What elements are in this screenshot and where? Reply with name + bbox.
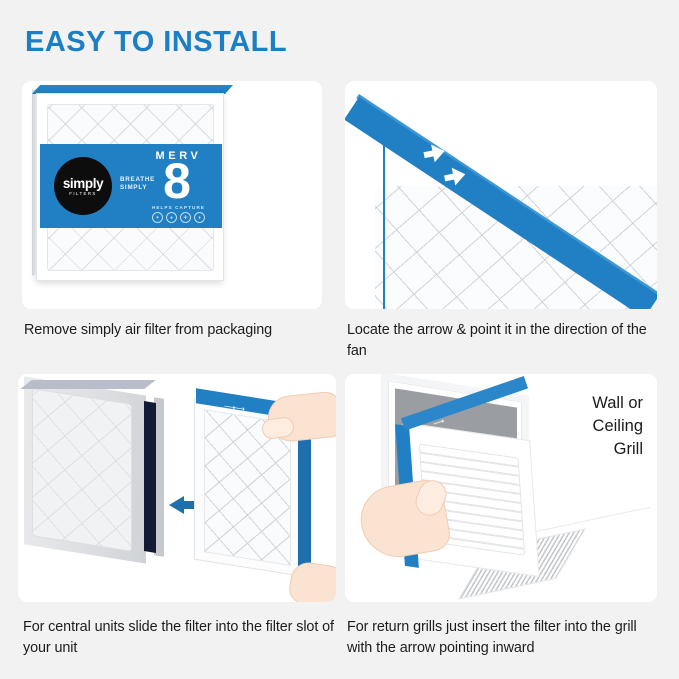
step-1-image-card: simply FILTERS BREATHE SIMPLY MERV 8 HEL… (22, 81, 322, 309)
page-title: EASY TO INSTALL (25, 26, 287, 59)
grill-label-line-3: Grill (527, 438, 643, 461)
merv-value: 8 (141, 156, 213, 206)
filter-slot (144, 401, 156, 553)
airflow-arrow-icon (431, 142, 446, 162)
brand-logo: simply FILTERS (54, 157, 112, 215)
dust-icon: ● (166, 212, 177, 223)
airflow-arrow-icon (452, 165, 467, 185)
grill-label: Wall or Ceiling Grill (527, 392, 643, 461)
pet-dander-icon: ♦ (194, 212, 205, 223)
filter-left-edge (383, 126, 385, 309)
brand-subname: FILTERS (69, 191, 97, 196)
step-3-image-card: ⟶⟶ (18, 374, 336, 602)
grill-label-line-1: Wall or (527, 392, 643, 415)
arrow-head (169, 496, 184, 514)
step-1-caption: Remove simply air filter from packaging (24, 320, 334, 341)
helps-capture-label: HELPS CAPTURE (141, 205, 216, 210)
packaging-front-face: simply FILTERS BREATHE SIMPLY MERV 8 HEL… (36, 93, 224, 281)
packaging-label-band: simply FILTERS BREATHE SIMPLY MERV 8 HEL… (40, 144, 222, 228)
hvac-unit-top (20, 380, 156, 389)
step-4-caption: For return grills just insert the filter… (347, 617, 657, 659)
step-3-caption: For central units slide the filter into … (23, 617, 335, 659)
infographic-root: EASY TO INSTALL simply FILTERS BREATHE S… (0, 0, 679, 679)
grill-label-line-2: Ceiling (527, 415, 643, 438)
bacteria-icon: ✚ (180, 212, 191, 223)
brand-name: simply (63, 177, 103, 190)
hvac-unit-face (32, 388, 132, 552)
step-4-image-card: ⟶ Wall or Ceiling Grill (345, 374, 657, 602)
filter-packaging-illustration: simply FILTERS BREATHE SIMPLY MERV 8 HEL… (22, 81, 322, 309)
helps-capture-icon-row: ✦ ● ✚ ♦ (141, 212, 216, 223)
step-2-caption: Locate the arrow & point it in the direc… (347, 320, 647, 362)
air-filter-illustration: ⟶⟶ (194, 396, 316, 576)
pollen-icon: ✦ (152, 212, 163, 223)
step-2-image-card (345, 81, 657, 309)
